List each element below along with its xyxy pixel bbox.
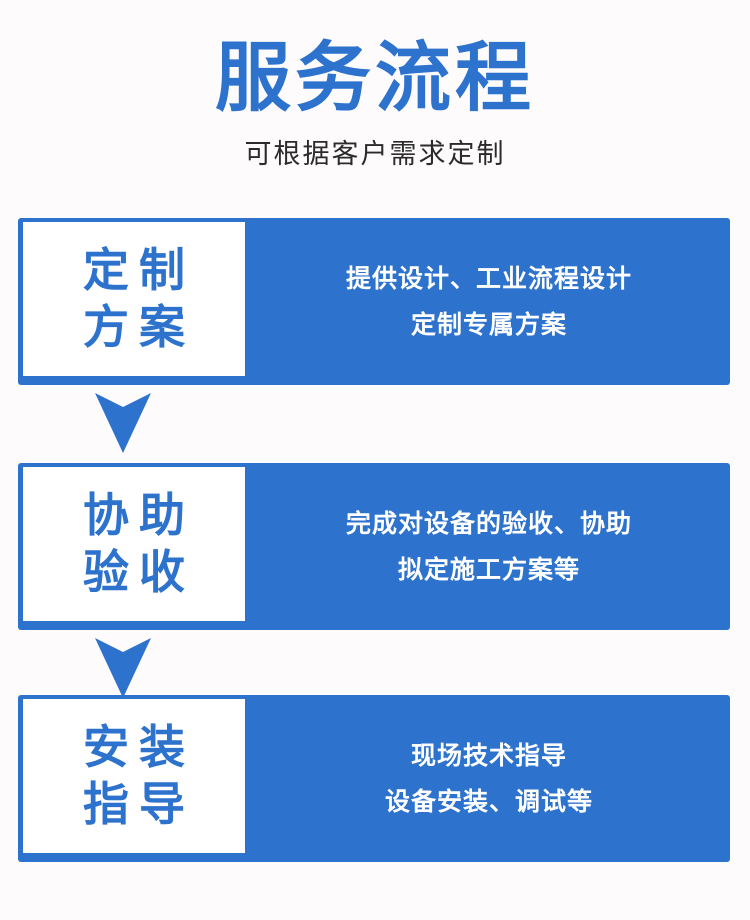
flow-step-2-description: 完成对设备的验收、协助 拟定施工方案等 (248, 463, 730, 630)
flow-step-3-description-line: 设备安装、调试等 (385, 779, 593, 825)
header: 服务流程 可根据客户需求定制 (0, 0, 750, 205)
flow-step-2-description-line: 拟定施工方案等 (398, 547, 580, 593)
flow-step-2-label-line: 验收 (73, 544, 195, 601)
arrow-down-icon (95, 393, 151, 453)
flow-step-3-label-line: 安装 (73, 719, 195, 776)
flow-step-3-description-line: 现场技术指导 (411, 733, 567, 779)
flow-step-3-panel: 现场技术指导 设备安装、调试等 安装 指导 (18, 695, 730, 862)
flow-step-1: 提供设计、工业流程设计 定制专属方案 定制 方案 (18, 218, 730, 385)
flow-step-1-description-line: 定制专属方案 (411, 302, 567, 348)
flow-step-2: 完成对设备的验收、协助 拟定施工方案等 协助 验收 (18, 463, 730, 630)
flow-step-1-description: 提供设计、工业流程设计 定制专属方案 (248, 218, 730, 385)
flow-step-3-label: 安装 指导 (20, 696, 248, 856)
flow-step-3-label-line: 指导 (73, 776, 195, 833)
page-title: 服务流程 (0, 36, 750, 122)
flow-step-2-label-line: 协助 (73, 487, 195, 544)
flow-step-1-label-line: 定制 (73, 242, 195, 299)
flow-step-1-label: 定制 方案 (20, 219, 248, 379)
flow-step-2-description-line: 完成对设备的验收、协助 (346, 501, 632, 547)
flow-step-3-description: 现场技术指导 设备安装、调试等 (248, 695, 730, 862)
flow-step-3: 现场技术指导 设备安装、调试等 安装 指导 (18, 695, 730, 862)
page-subtitle: 可根据客户需求定制 (0, 136, 750, 172)
service-process-infographic: 服务流程 可根据客户需求定制 提供设计、工业流程设计 定制专属方案 定制 方案 … (0, 0, 750, 920)
flow-step-2-label: 协助 验收 (20, 464, 248, 624)
arrow-down-icon (95, 638, 151, 698)
flow-step-1-label-line: 方案 (73, 299, 195, 356)
flow-step-1-panel: 提供设计、工业流程设计 定制专属方案 定制 方案 (18, 218, 730, 385)
flow-step-1-description-line: 提供设计、工业流程设计 (346, 256, 632, 302)
flow-step-2-panel: 完成对设备的验收、协助 拟定施工方案等 协助 验收 (18, 463, 730, 630)
